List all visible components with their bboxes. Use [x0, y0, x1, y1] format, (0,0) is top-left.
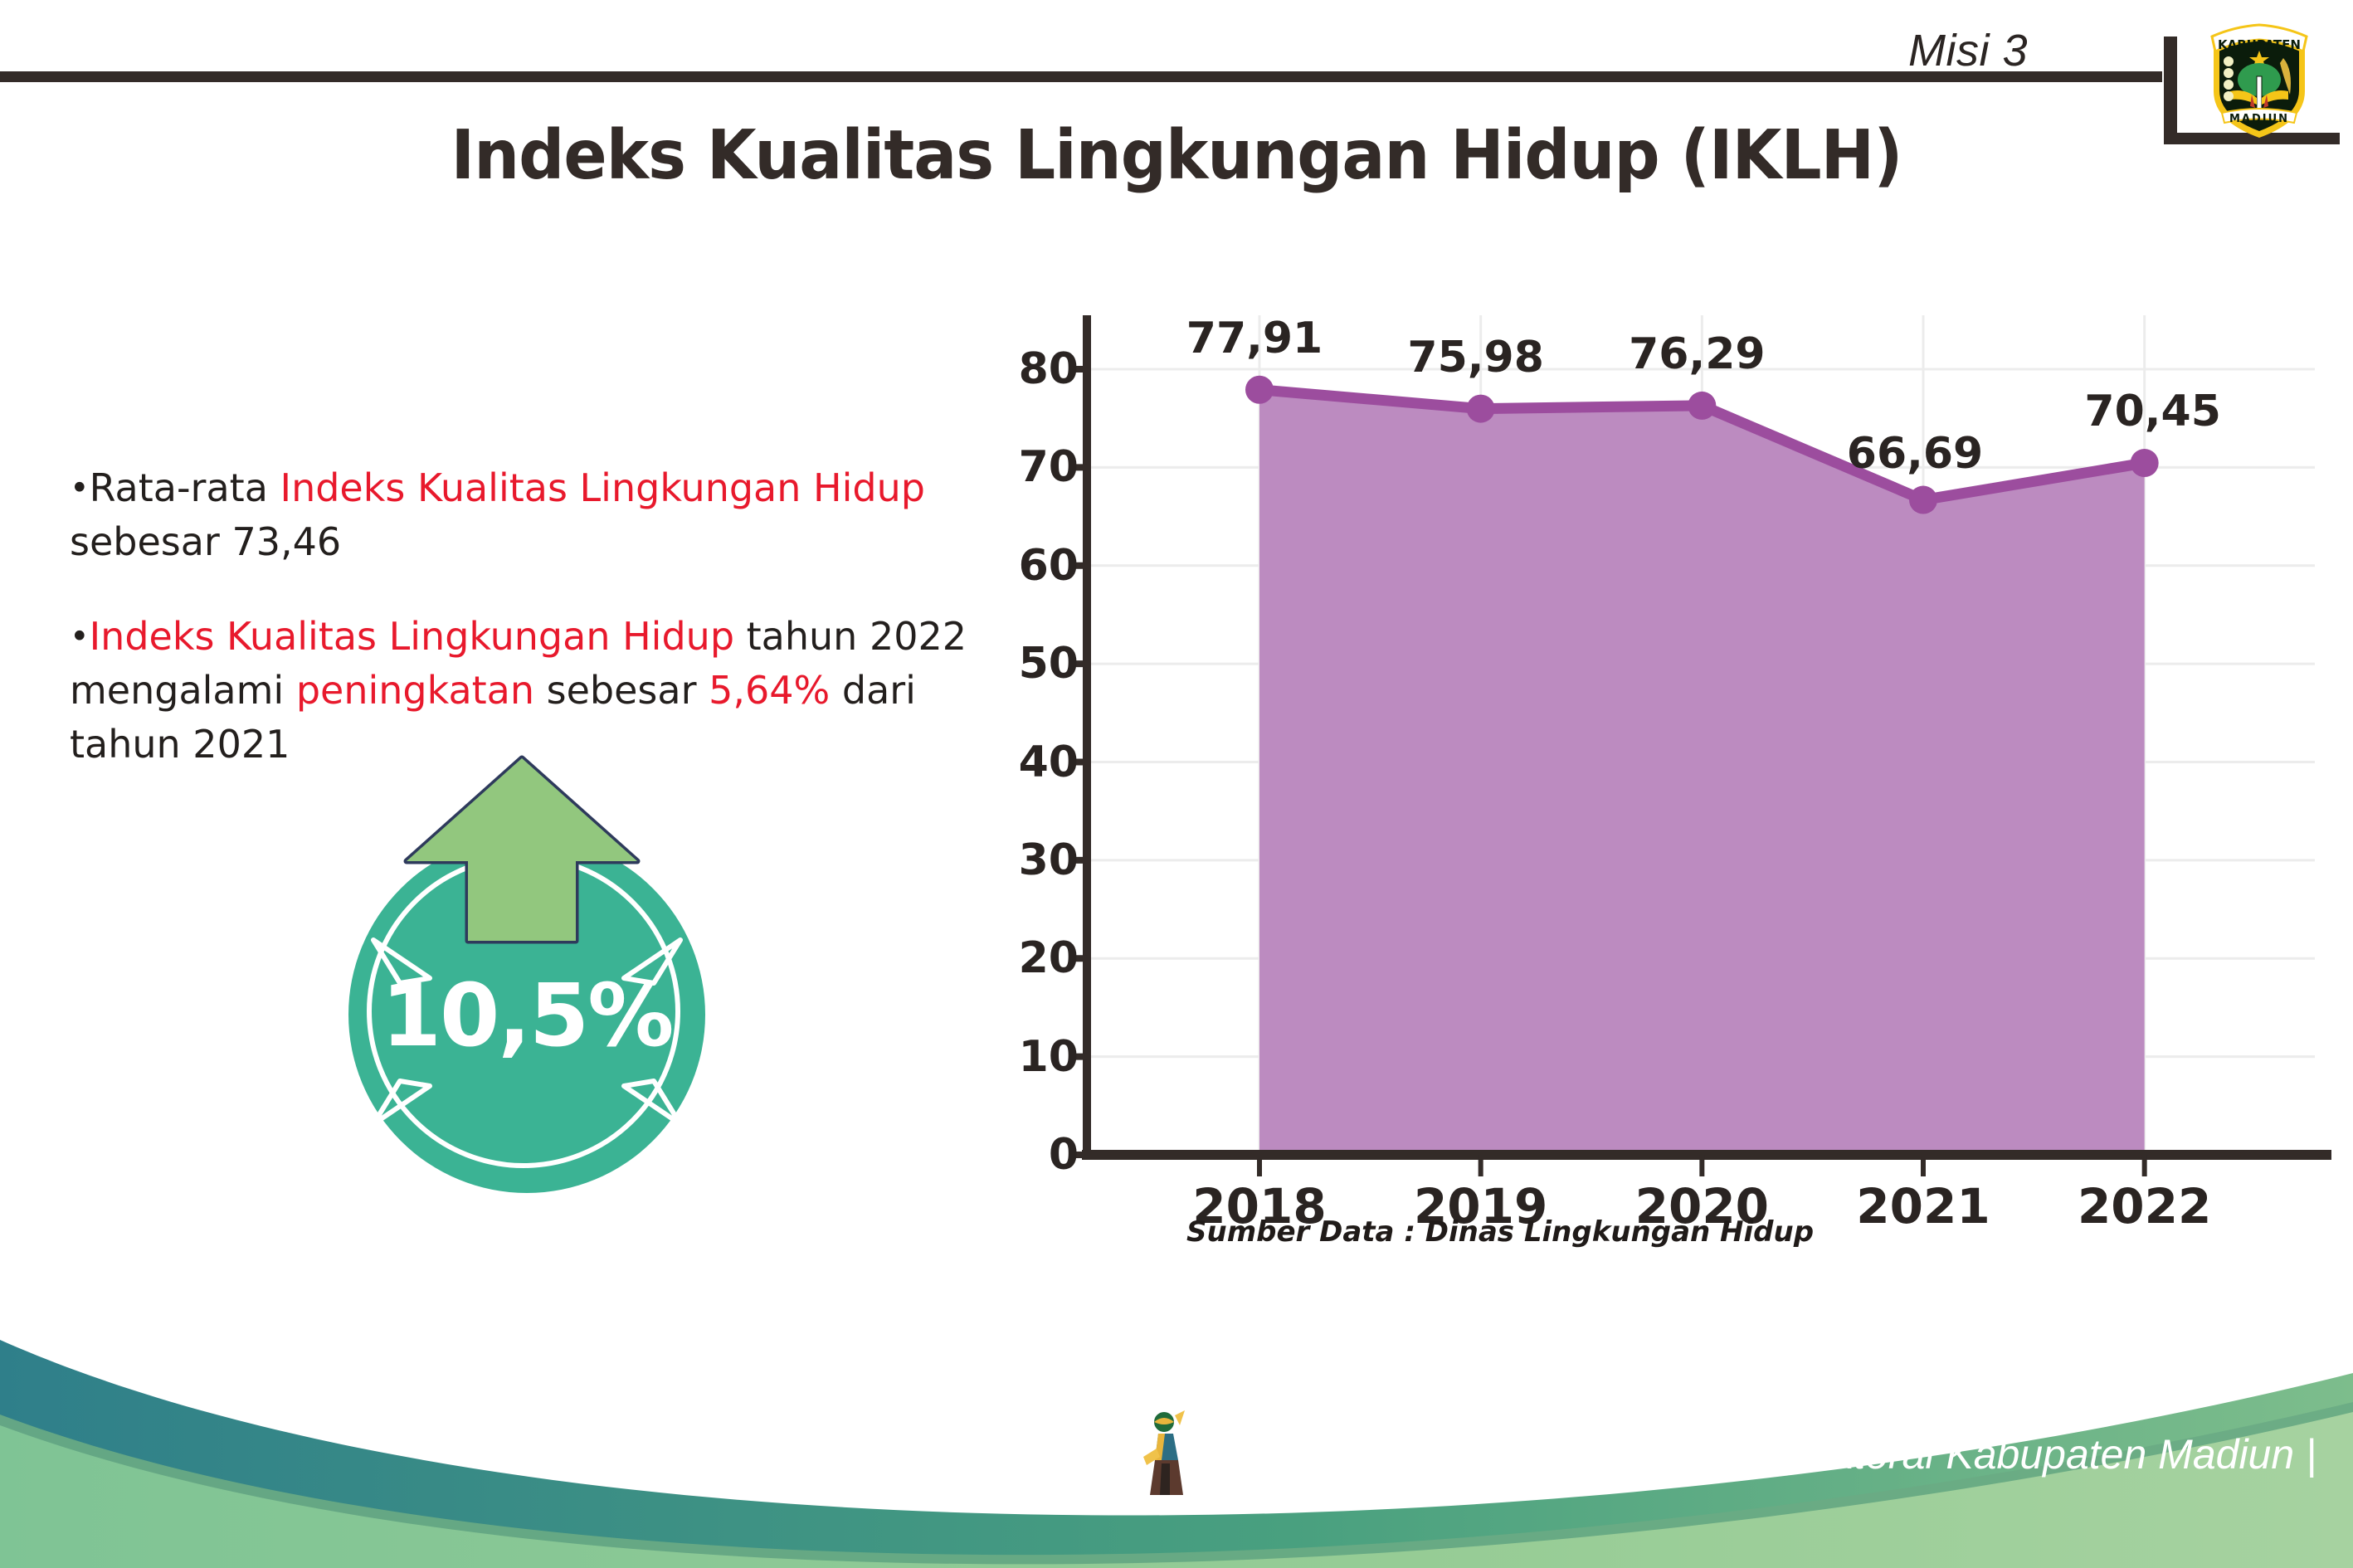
x-axis-tick-2021: 2021: [1856, 1178, 1990, 1234]
y-axis-tick-30: 30: [1019, 835, 1079, 885]
data-point-2020: [1688, 392, 1716, 420]
bullet-2-seg4: sebesar: [534, 668, 709, 713]
infographic-slide: Misi 3 KABUPATEN MADIUN Indeks Kualitas: [0, 0, 2353, 1568]
y-axis-tick-40: 40: [1019, 738, 1079, 787]
y-axis-tick-0: 0: [1049, 1130, 1079, 1180]
y-axis-tick-70: 70: [1019, 442, 1079, 492]
data-point-2022: [2131, 449, 2159, 477]
growth-badge: 10,5%: [332, 753, 747, 1193]
y-axis-tick-50: 50: [1019, 639, 1079, 689]
bullet-1-seg1: Rata-rata: [90, 465, 280, 510]
series-area-fill: [1259, 390, 2145, 1155]
y-axis-tick-80: 80: [1019, 344, 1079, 394]
person-statistic-icon: [1137, 1409, 1211, 1500]
badge-tick-bottom-left: [365, 1073, 440, 1139]
data-label-2020: 76,29: [1629, 329, 1765, 379]
bullet-1-highlight: Indeks Kualitas Lingkungan Hidup: [280, 465, 925, 510]
bullet-2-highlight-1: Indeks Kualitas Lingkungan Hidup: [90, 614, 734, 659]
svg-text:KABUPATEN: KABUPATEN: [2218, 37, 2301, 52]
page-title: Indeks Kualitas Lingkungan Hidup (IKLH): [71, 116, 2282, 195]
y-axis-tick-20: 20: [1019, 933, 1079, 983]
data-label-2018: 77,91: [1186, 314, 1323, 363]
data-label-2021: 66,69: [1847, 429, 1983, 479]
data-label-2019: 75,98: [1407, 333, 1543, 382]
bullet-1-seg3: sebesar 73,46: [70, 519, 341, 564]
bullet-2-highlight-3: 5,64%: [709, 668, 830, 713]
badge-value: 10,5%: [348, 965, 705, 1066]
y-axis-tick-60: 60: [1019, 541, 1079, 591]
footer: Media Infografis Data Statistik Sektoral…: [0, 1294, 2353, 1568]
y-axis-tick-10: 10: [1019, 1032, 1079, 1082]
source-note: Sumber Data : Dinas Lingkungan Hidup: [1186, 1215, 1814, 1249]
bullet-dot: •: [70, 617, 90, 655]
x-axis-tick-2022: 2022: [2078, 1178, 2211, 1234]
bullet-item-1: •Rata-rata Indeks Kualitas Lingkungan Hi…: [66, 461, 987, 570]
data-point-2019: [1467, 395, 1495, 423]
data-label-2022: 70,45: [2084, 387, 2220, 436]
header-rule: [0, 71, 2162, 82]
mission-label: Misi 3: [1908, 25, 2028, 76]
up-arrow-icon: [402, 753, 642, 952]
data-point-2018: [1245, 376, 1274, 404]
bullet-2-highlight-2: peningkatan: [296, 668, 534, 713]
footer-label: Media Infografis Data Statistik Sektoral…: [1220, 1430, 2316, 1478]
iklh-area-chart: 01020304050607080 20182019202020212022 7…: [987, 274, 2340, 1203]
bullet-item-2: •Indeks Kualitas Lingkungan Hidup tahun …: [66, 610, 987, 772]
data-point-2021: [1909, 486, 1937, 514]
bullet-dot: •: [70, 470, 90, 508]
badge-tick-bottom-right: [614, 1073, 689, 1139]
y-axis-labels: 01020304050607080: [987, 274, 1079, 1157]
